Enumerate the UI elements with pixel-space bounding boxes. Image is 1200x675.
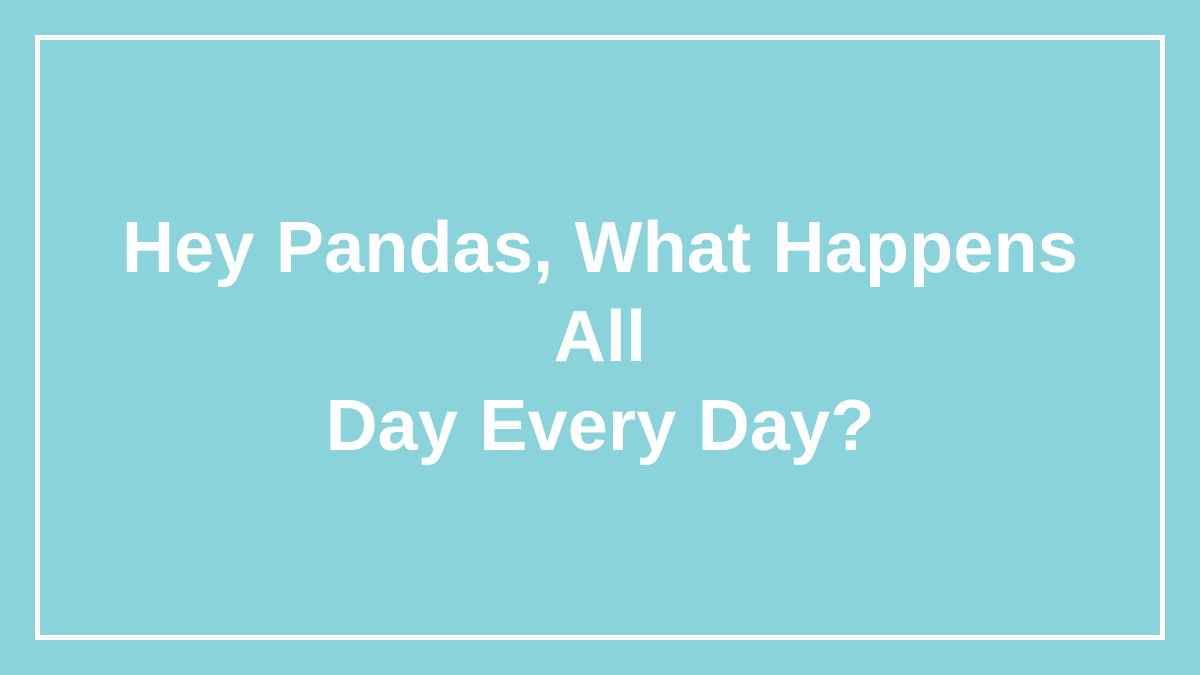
banner-card: Hey Pandas, What Happens All Day Every D…	[0, 0, 1200, 675]
page-title: Hey Pandas, What Happens All Day Every D…	[95, 204, 1105, 472]
headline-container: Hey Pandas, What Happens All Day Every D…	[0, 0, 1200, 675]
